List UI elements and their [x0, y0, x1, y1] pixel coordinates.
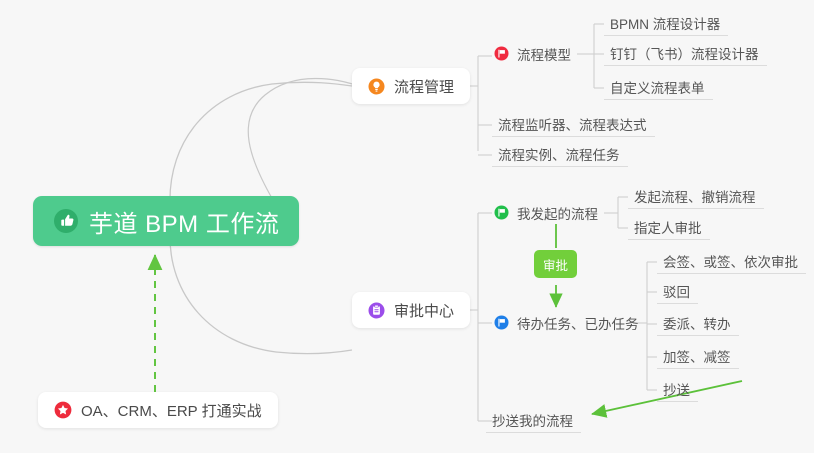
mindmap-canvas: 芋道 BPM 工作流 流程管理 流程模型 BPMN 流程设计器 钉钉（飞书）流程: [0, 0, 814, 453]
flag-icon: [494, 315, 509, 330]
clipboard-icon: [368, 302, 385, 319]
leaf-label: 流程实例、流程任务: [498, 144, 620, 164]
leaf-label: 驳回: [663, 281, 690, 301]
leaf-node-dingtalk-feishu-designer[interactable]: 钉钉（飞书）流程设计器: [604, 40, 767, 66]
leaf-node-custom-form[interactable]: 自定义流程表单: [604, 74, 713, 100]
flag-icon: [494, 205, 509, 220]
leaf-label: BPMN 流程设计器: [610, 13, 720, 33]
leaf-node-reject[interactable]: 驳回: [657, 278, 698, 304]
sub-label-process-model: 流程模型: [517, 44, 571, 64]
note-label: OA、CRM、ERP 打通实战: [81, 400, 262, 421]
root-label: 芋道 BPM 工作流: [89, 204, 279, 239]
leaf-node-cc-to-me[interactable]: 抄送我的流程: [486, 407, 581, 433]
star-icon: [54, 401, 72, 419]
leaf-label: 指定人审批: [634, 217, 702, 237]
edge-root-to-branch-1: [170, 232, 352, 354]
sub-label-todo-done-tasks: 待办任务、已办任务: [517, 313, 639, 333]
leaf-node-bpmn-designer[interactable]: BPMN 流程设计器: [604, 10, 728, 36]
leaf-label: 发起流程、撤销流程: [634, 186, 756, 206]
sub-label-my-initiated: 我发起的流程: [517, 203, 598, 223]
leaf-node-add-remove-sign[interactable]: 加签、减签: [657, 343, 739, 369]
leaf-label: 会签、或签、依次审批: [663, 251, 798, 271]
leaf-label: 抄送: [663, 379, 690, 399]
leaf-label: 流程监听器、流程表达式: [498, 114, 647, 134]
sub-node-todo-done-tasks[interactable]: 待办任务、已办任务: [492, 309, 645, 337]
branch-node-process-management[interactable]: 流程管理: [352, 68, 470, 104]
note-node-integration[interactable]: OA、CRM、ERP 打通实战: [38, 392, 278, 428]
thumbs-up-icon: [53, 208, 79, 234]
branch-label-process-management: 流程管理: [394, 76, 454, 97]
leaf-node-delegate-transfer[interactable]: 委派、转办: [657, 310, 739, 336]
leaf-node-carbon-copy[interactable]: 抄送: [657, 376, 698, 402]
leaf-label: 自定义流程表单: [610, 77, 705, 97]
flow-tag-approval: 审批: [534, 250, 577, 278]
flag-icon: [494, 46, 509, 61]
sub-node-process-model[interactable]: 流程模型: [492, 40, 577, 68]
branch-label-approval-center: 审批中心: [394, 300, 454, 321]
root-node[interactable]: 芋道 BPM 工作流: [33, 196, 299, 246]
sub-node-my-initiated[interactable]: 我发起的流程: [492, 199, 604, 227]
flow-tag-label: 审批: [543, 255, 568, 274]
leaf-node-start-cancel-process[interactable]: 发起流程、撤销流程: [628, 183, 764, 209]
leaf-label: 钉钉（飞书）流程设计器: [610, 43, 759, 63]
leaf-node-designated-approver[interactable]: 指定人审批: [628, 214, 710, 240]
branch-node-approval-center[interactable]: 审批中心: [352, 292, 470, 328]
edge-root-to-branch-0: [170, 82, 352, 205]
leaf-label: 加签、减签: [663, 346, 731, 366]
lightbulb-icon: [368, 78, 385, 95]
edge-root-upper-curve: [248, 78, 352, 200]
leaf-label: 委派、转办: [663, 313, 731, 333]
leaf-node-process-listener[interactable]: 流程监听器、流程表达式: [492, 111, 655, 137]
leaf-node-process-instance[interactable]: 流程实例、流程任务: [492, 141, 628, 167]
leaf-node-countersign[interactable]: 会签、或签、依次审批: [657, 248, 806, 274]
leaf-label: 抄送我的流程: [492, 410, 573, 430]
